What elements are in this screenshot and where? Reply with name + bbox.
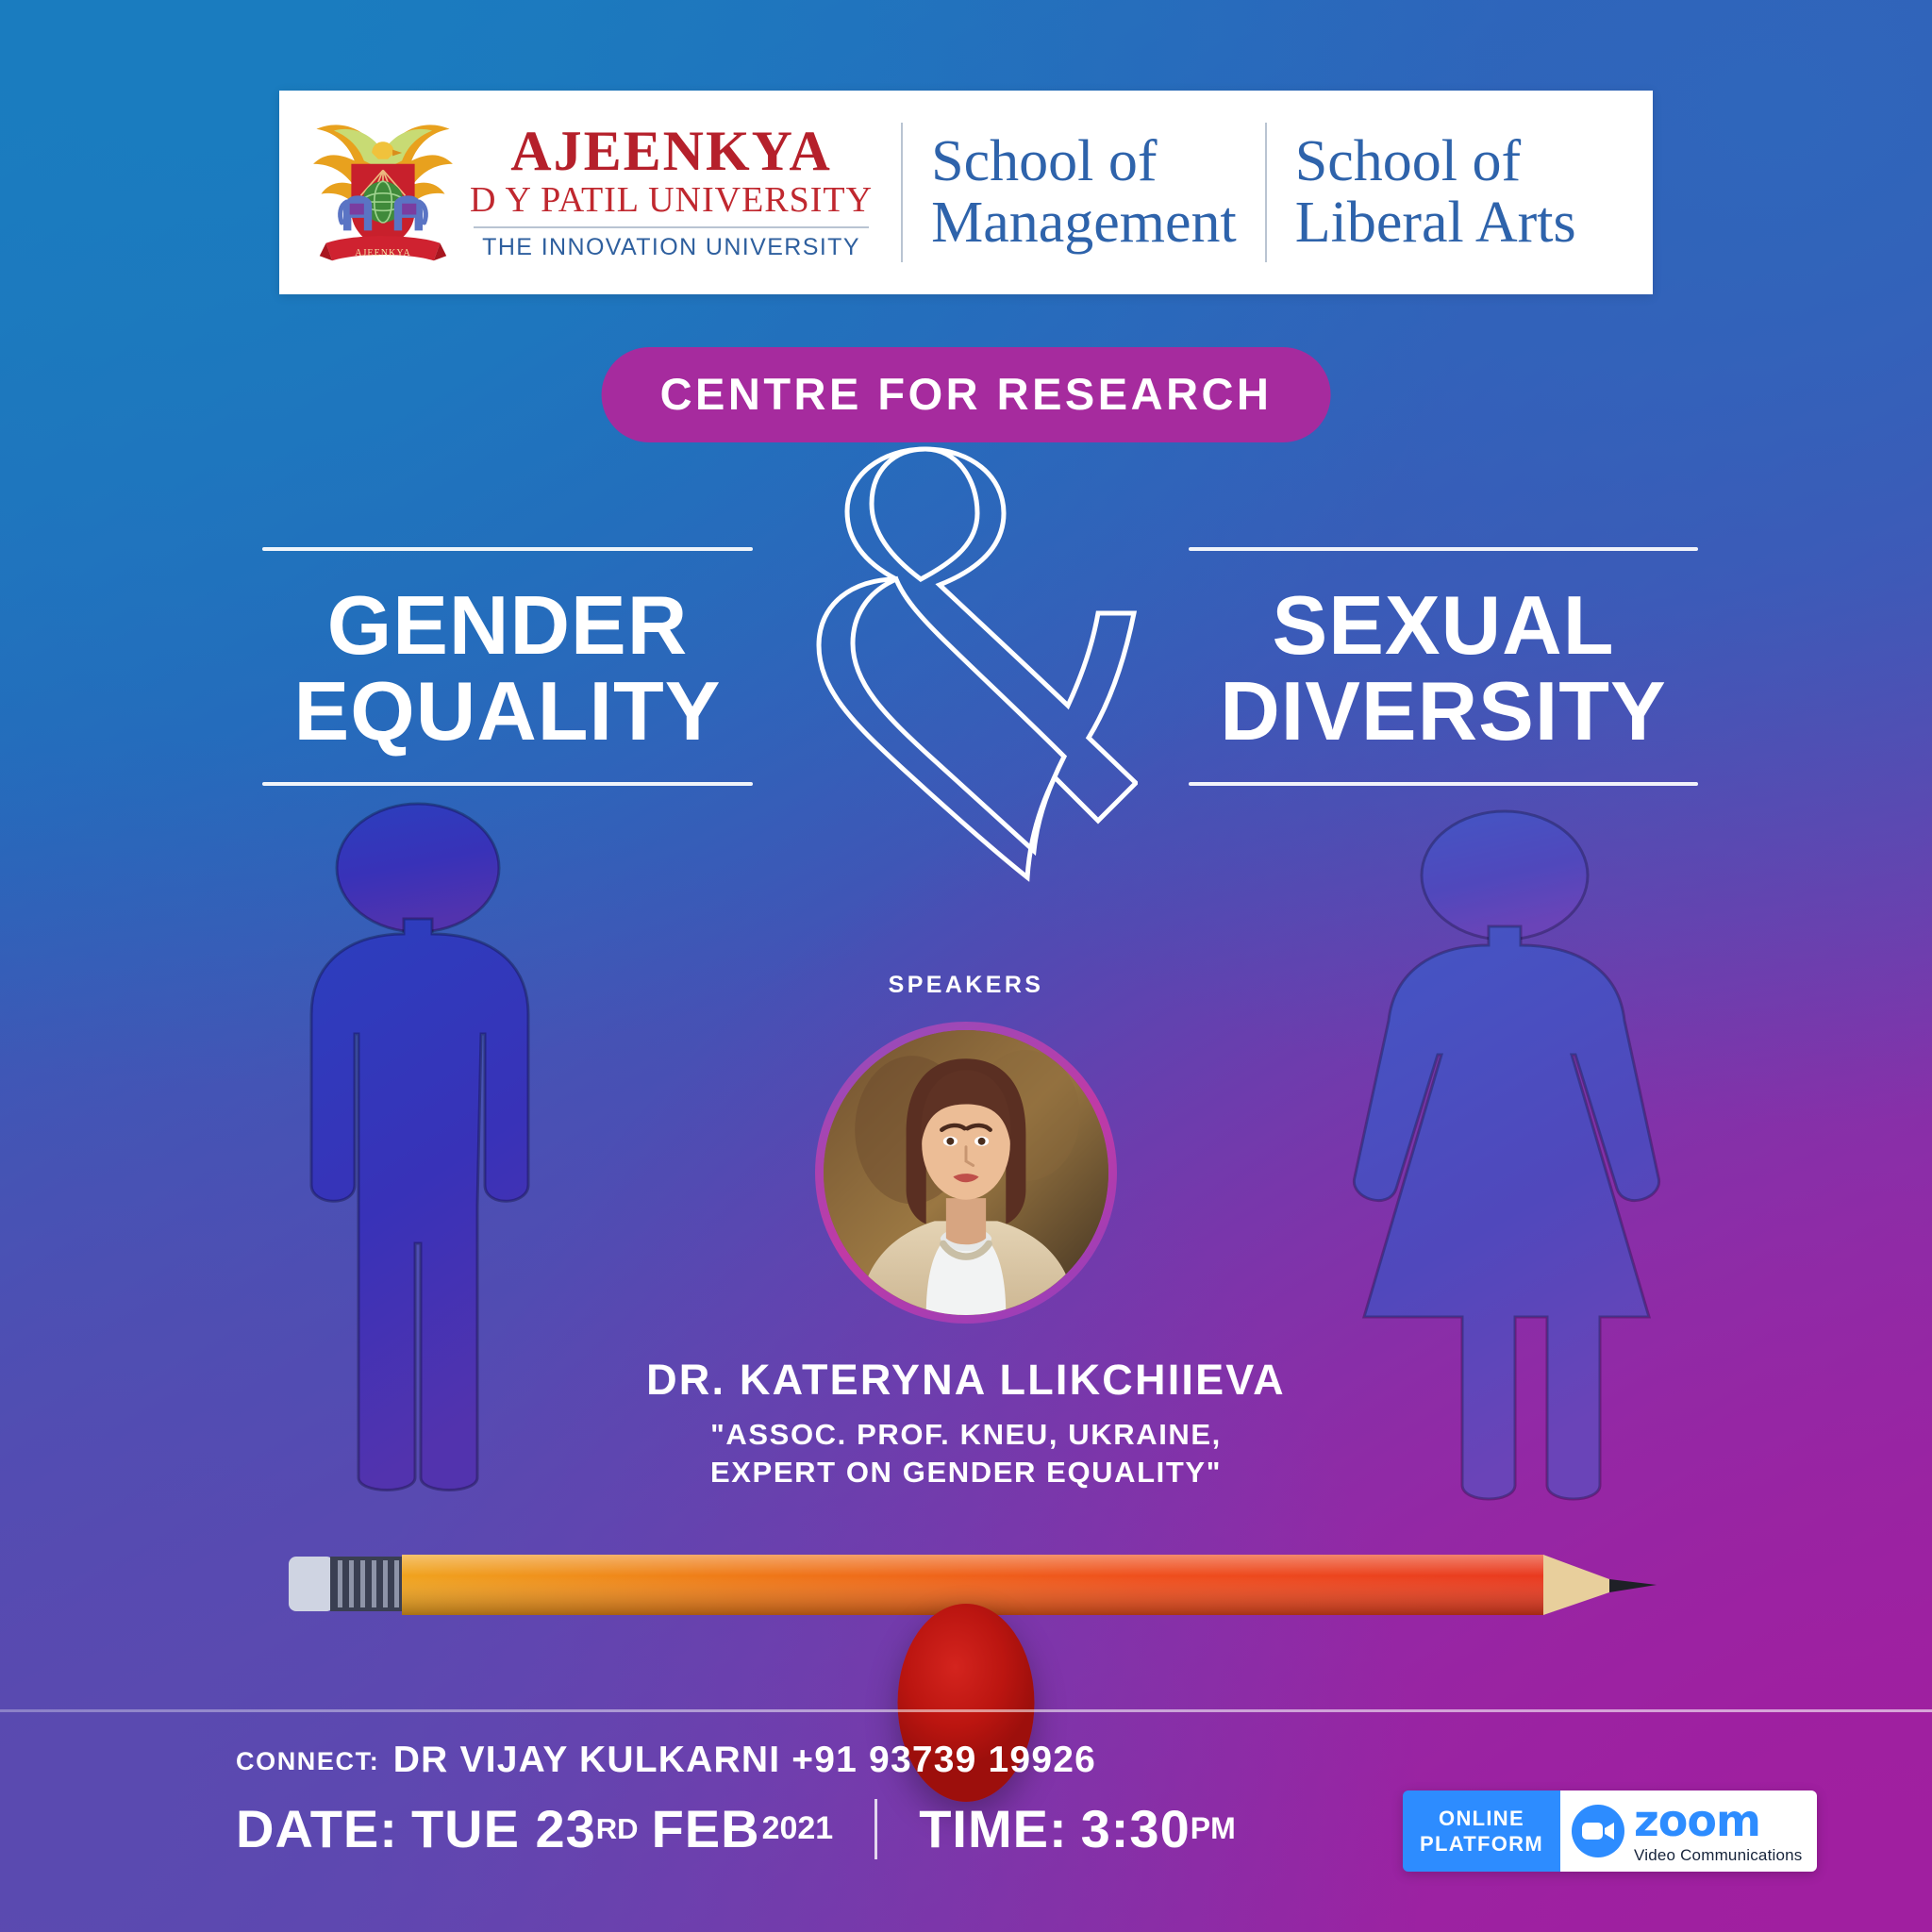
university-tagline: THE INNOVATION UNIVERSITY	[470, 234, 873, 261]
date-label: DATE:	[236, 1798, 398, 1859]
video-camera-icon	[1572, 1805, 1624, 1857]
title-right: SEXUAL DIVERSITY	[1189, 547, 1698, 786]
title-rule-top-right	[1189, 547, 1698, 551]
centre-for-research-badge: CENTRE FOR RESEARCH	[602, 347, 1331, 442]
time-value: 3:30	[1081, 1798, 1191, 1859]
zoom-tagline: Video Communications	[1634, 1847, 1803, 1863]
date-year: 2021	[762, 1810, 834, 1847]
speaker-portrait	[824, 1030, 1108, 1315]
connect-info: CONNECT: DR VIJAY KULKARNI +91 93739 199…	[236, 1740, 1096, 1781]
female-pictogram-icon	[1330, 808, 1679, 1507]
university-wordmark: AJEENKYA D Y PATIL UNIVERSITY THE INNOVA…	[470, 124, 873, 262]
platform-line1: ONLINE	[1439, 1806, 1524, 1831]
connect-label: CONNECT:	[236, 1747, 379, 1775]
zoom-word: zoom	[1634, 1799, 1803, 1842]
zoom-wordmark: zoom Video Communications	[1634, 1799, 1803, 1863]
male-pictogram-icon	[253, 800, 583, 1498]
university-name-line1: AJEENKYA	[470, 124, 873, 179]
title-left: GENDER EQUALITY	[262, 547, 753, 786]
title-gender-equality: GENDER EQUALITY	[262, 551, 753, 782]
logo-divider-2	[1265, 123, 1267, 262]
logo-divider-1	[901, 123, 903, 262]
connect-value: DR VIJAY KULKARNI +91 93739 19926	[393, 1740, 1096, 1780]
online-platform-zoom-badge[interactable]: ONLINE PLATFORM zoom Video Communication…	[1403, 1790, 1817, 1872]
zoom-logo: zoom Video Communications	[1560, 1790, 1818, 1872]
title-rule-bottom-right	[1189, 782, 1698, 786]
speakers-section: SPEAKERS	[626, 972, 1306, 1491]
wordmark-divider	[474, 226, 869, 228]
avatar	[815, 1022, 1117, 1324]
svg-text:AJEENKYA: AJEENKYA	[355, 248, 411, 258]
footer-divider	[0, 1709, 1932, 1712]
title-rule-top-left	[262, 547, 753, 551]
time-label: TIME:	[919, 1798, 1067, 1859]
title-rule-bottom-left	[262, 782, 753, 786]
university-logo-bar: AJEENKYA AJEENKYA D Y PATIL UNIVERSITY T…	[279, 91, 1653, 294]
date-suffix: RD	[596, 1812, 639, 1846]
speaker-description: "ASSOC. PROF. KNEU, UKRAINE, EXPERT ON G…	[626, 1416, 1306, 1491]
online-platform-label: ONLINE PLATFORM	[1403, 1790, 1560, 1872]
date-time-row: DATE: TUE 23 RD FEB 2021 TIME: 3:30 PM	[236, 1798, 1236, 1859]
ampersand-icon	[798, 441, 1138, 885]
date-month: FEB	[652, 1798, 760, 1859]
school-of-management-label: School of Management	[931, 131, 1237, 254]
ajeenkya-crest-icon: AJEENKYA	[304, 113, 462, 272]
date-time-separator	[874, 1799, 877, 1859]
title-sexual-diversity: SEXUAL DIVERSITY	[1189, 551, 1698, 782]
event-poster: AJEENKYA AJEENKYA D Y PATIL UNIVERSITY T…	[0, 0, 1932, 1932]
speaker-name: DR. KATERYNA LLIKCHIIEVA	[626, 1356, 1306, 1405]
school-of-liberal-arts-label: School of Liberal Arts	[1295, 131, 1576, 254]
speakers-label: SPEAKERS	[626, 972, 1306, 999]
platform-line2: PLATFORM	[1420, 1831, 1543, 1857]
university-name-line2: D Y PATIL UNIVERSITY	[470, 181, 873, 221]
time-meridiem: PM	[1191, 1811, 1236, 1846]
date-value: TUE 23	[411, 1798, 596, 1859]
